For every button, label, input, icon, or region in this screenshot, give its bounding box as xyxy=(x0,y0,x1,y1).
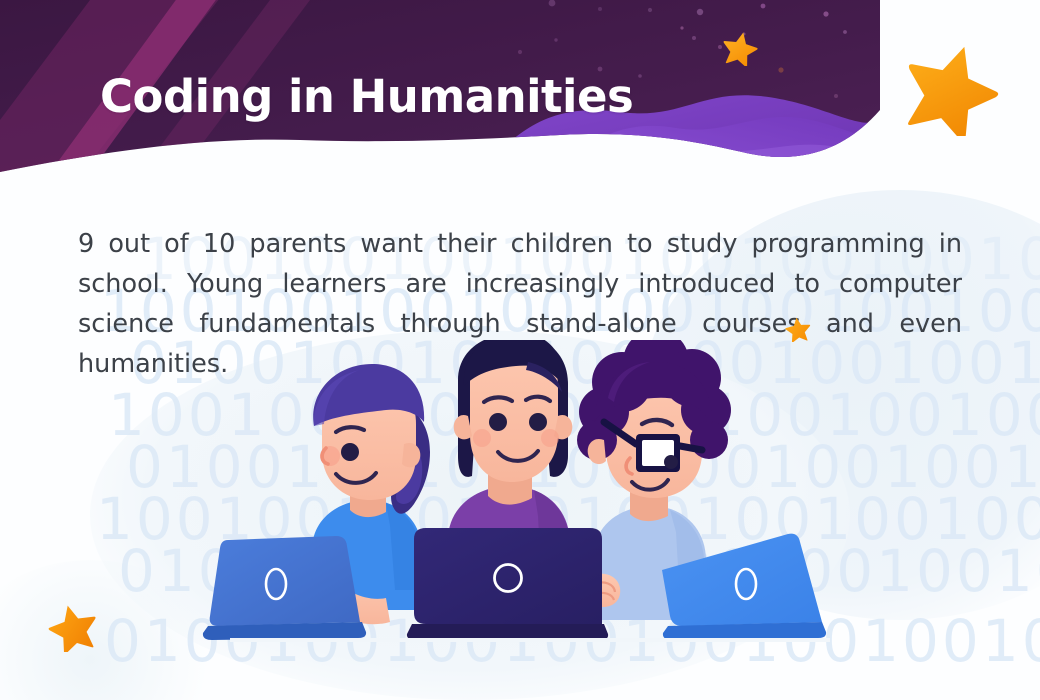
laptop-center xyxy=(407,528,608,640)
star-header-small-icon xyxy=(722,30,758,66)
star-bottom-left-icon xyxy=(48,602,98,652)
page-title: Coding in Humanities xyxy=(100,68,633,126)
background-blob-left xyxy=(0,560,220,700)
kid-center-bob xyxy=(407,340,620,640)
star-paragraph-small-icon xyxy=(785,316,811,342)
slide-canvas: 10010010010010010010010010010 1001001001… xyxy=(0,0,1040,700)
kid-left-ponytail xyxy=(203,364,430,640)
star-header-large-icon xyxy=(903,40,999,136)
desk-surface xyxy=(230,638,830,642)
laptop-left xyxy=(203,536,366,640)
illustration-three-children-with-laptops xyxy=(190,340,870,660)
